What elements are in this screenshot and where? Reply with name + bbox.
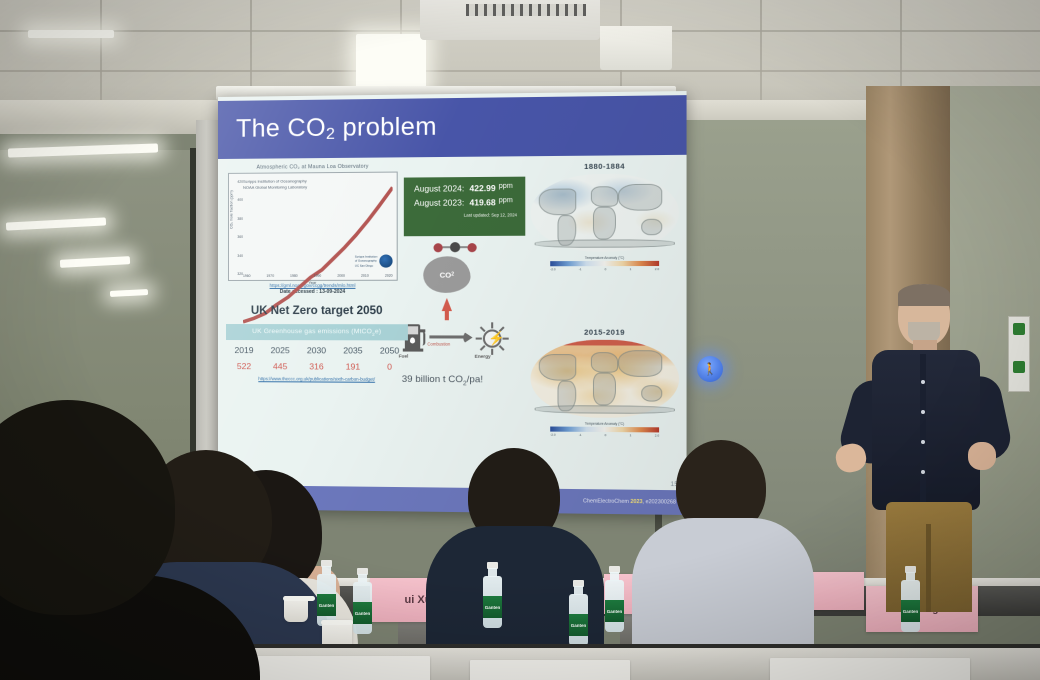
cb-tick: -2.0 <box>550 432 555 436</box>
cite-right-post: , e202300268 <box>643 499 676 506</box>
ppm-value: 422.99 <box>469 183 495 193</box>
co2-ppm-callout-box: August 2024: 422.99 ppm August 2023: 419… <box>404 177 525 237</box>
table-row-values: 522 445 316 191 0 <box>226 358 408 375</box>
ppm-label: August 2023: <box>414 197 469 207</box>
cb-tick: 2.0 <box>655 267 659 271</box>
bottle-label: Ganten <box>901 600 920 622</box>
colorbar-ticks: -2.0 -1 0 1 2.0 <box>550 267 659 271</box>
lightning-bolt-icon: ⚡ <box>488 331 505 344</box>
world-map-cool <box>530 173 679 252</box>
badge-text: Scripps Institution of Oceanography UC S… <box>355 255 377 268</box>
bottle-label: Ganten <box>605 600 624 622</box>
cb-tick: -1 <box>579 267 582 271</box>
colorbar-title: Temperature Anomaly (°C) <box>550 421 659 426</box>
emission-prefix: 39 billion t CO <box>402 374 463 385</box>
year-cell: 2025 <box>262 342 298 358</box>
year-cell: 2050 <box>371 343 408 359</box>
citation-right: ChemElectroChem 2023, e202300268 <box>583 498 676 505</box>
cb-tick: -1 <box>579 432 582 436</box>
bottle-label: Ganten <box>569 614 588 636</box>
energy-sun-icon: ⚡ <box>477 323 508 354</box>
x-tick: 2020 <box>385 274 393 278</box>
ppm-row: August 2024: 422.99 ppm <box>414 183 517 194</box>
conference-room-scene: 🚶 The CO2 problem Atmospheric CO₂ at Mau… <box>0 0 1040 680</box>
co2-molecule-icon <box>434 242 477 252</box>
combustion-label: Combustion <box>427 341 450 346</box>
person-running-icon: 🚶 <box>697 356 723 382</box>
year-cell: 2019 <box>226 342 262 358</box>
keeling-x-axis-label: Year <box>229 281 397 285</box>
year-cell: 2035 <box>335 343 372 359</box>
ceiling-projector <box>420 0 600 40</box>
wall-light-strip <box>6 217 106 230</box>
presentation-slide: The CO2 problem Atmospheric CO₂ at Mauna… <box>218 91 687 515</box>
emission-arrow-tail <box>445 309 449 320</box>
cb-tick: -2.0 <box>550 267 555 271</box>
cb-tick: 1 <box>630 433 632 437</box>
cb-tick: 1 <box>630 267 632 271</box>
bottle-label: Ganten <box>483 596 502 618</box>
x-tick: 2010 <box>361 274 369 278</box>
noaa-scripps-badge: Scripps Institution of Oceanography UC S… <box>355 254 393 267</box>
slide-title-rest: problem <box>335 112 437 141</box>
name-card <box>806 572 864 610</box>
ppm-label: August 2024: <box>414 183 469 194</box>
badge-line3: UC San Diego <box>355 263 377 267</box>
colorbar-gradient <box>550 261 659 266</box>
x-tick: 1960 <box>243 274 251 278</box>
ppm-unit: ppm <box>499 183 513 193</box>
y-tick: 400 <box>231 198 243 202</box>
uk-emissions-table: 2019 2025 2030 2035 2050 522 445 316 191… <box>226 342 408 375</box>
keeling-chart-title: Atmospheric CO₂ at Mauna Loa Observatory <box>228 163 398 170</box>
bottle-label: Ganten <box>317 594 336 616</box>
emission-statement: 39 billion t CO2/pa! <box>402 374 483 387</box>
world-map-warm <box>530 340 679 419</box>
presenter-hair <box>898 284 950 306</box>
map-label: 1880-1884 <box>525 161 684 172</box>
cite-right-pre: ChemElectroChem <box>583 498 630 505</box>
uk-net-zero-block: UK Net Zero target 2050 UK Greenhouse ga… <box>226 305 408 382</box>
shirt-placket <box>920 354 926 504</box>
value-cell: 316 <box>298 359 334 375</box>
wall-light-strip <box>60 256 130 268</box>
ppm-last-updated: Last updated: Sep 12, 2024 <box>414 212 517 218</box>
keeling-plot-area: Scripps Institution of Oceanography NOAA… <box>228 172 398 281</box>
presenter-leg-split <box>926 524 931 612</box>
colorbar-title: Temperature Anomaly (°C) <box>550 256 659 260</box>
map-colorbar: Temperature Anomaly (°C) -2.0 -1 0 1 2.0 <box>550 421 659 437</box>
presenter-torso <box>872 350 980 510</box>
slide-title-sub: 2 <box>326 126 335 143</box>
paper-sheet <box>770 658 970 680</box>
cloud-sub: 2 <box>451 272 454 278</box>
value-cell: 191 <box>335 359 372 375</box>
y-tick: 380 <box>231 217 243 221</box>
keeling-x-ticks: 1960 1970 1980 1990 2000 2010 2020 <box>243 274 393 278</box>
wall-light-strip <box>110 289 148 297</box>
y-tick: 340 <box>231 253 243 257</box>
cb-tick: 0 <box>605 433 607 437</box>
temperature-anomaly-map-2015: 2015-2019 Temperature Anomaly (°C) <box>525 327 684 449</box>
presenter-right-hand <box>968 442 996 470</box>
projector-vents <box>466 4 586 16</box>
colorbar-ticks: -2.0 -1 0 1 2.0 <box>550 432 659 437</box>
noaa-logo-icon <box>379 254 392 267</box>
cb-tick: 2.0 <box>655 433 659 437</box>
cb-tick: 0 <box>605 267 607 271</box>
uk-header-tail: e) <box>375 328 381 335</box>
combustion-diagram: CO2 Fuel Combustion <box>395 242 518 374</box>
x-tick: 1980 <box>290 274 298 278</box>
cloud-label: CO <box>440 270 452 279</box>
year-cell: 2030 <box>298 343 334 359</box>
ppm-value: 419.68 <box>469 197 495 207</box>
co2-cloud-icon: CO2 <box>423 256 470 293</box>
ppm-row: August 2023: 419.68 ppm <box>414 197 517 208</box>
y-tick: 360 <box>231 235 243 239</box>
paper-sheet <box>470 660 630 680</box>
paper-sheet <box>240 656 430 680</box>
projection-screen: The CO2 problem Atmospheric CO₂ at Mauna… <box>218 91 687 515</box>
emission-suffix: /pa! <box>467 374 483 385</box>
energy-label: Energy <box>475 354 491 359</box>
map-colorbar: Temperature Anomaly (°C) -2.0 -1 0 1 2.0 <box>550 256 659 271</box>
page-title: The CO2 problem <box>218 112 437 145</box>
value-cell: 0 <box>371 359 408 375</box>
wall-light-strip <box>8 143 158 157</box>
x-tick: 1990 <box>314 274 322 278</box>
x-tick: 1970 <box>266 274 274 278</box>
keeling-y-ticks: 420 400 380 360 340 320 <box>231 180 243 276</box>
value-cell: 445 <box>262 358 298 374</box>
ppm-unit: ppm <box>499 197 513 207</box>
slide-title-bar: The CO2 problem <box>218 95 687 159</box>
keeling-curve-figure: Atmospheric CO₂ at Mauna Loa Observatory… <box>228 163 398 297</box>
slide-title-main: The CO <box>236 114 326 143</box>
projector-lens <box>600 26 672 70</box>
badge-line2: of Oceanography <box>355 259 377 263</box>
slide-body: Atmospheric CO₂ at Mauna Loa Observatory… <box>218 155 687 490</box>
y-tick: 320 <box>231 272 243 276</box>
ceiling-light <box>28 30 114 38</box>
uk-source-link[interactable]: https://www.theccc.org.uk/publications/s… <box>226 376 408 382</box>
presenter <box>858 284 1028 604</box>
cite-right-bold: 2023 <box>630 499 642 505</box>
uk-table-header: UK Greenhouse gas emissions (MtCO2e) <box>226 324 408 341</box>
bottle-label: Ganten <box>353 602 372 624</box>
table-row-years: 2019 2025 2030 2035 2050 <box>226 342 408 359</box>
paper-cup <box>284 596 308 622</box>
map-label: 2015-2019 <box>525 327 684 336</box>
value-cell: 522 <box>226 358 262 374</box>
y-tick: 420 <box>231 180 243 184</box>
x-tick: 2000 <box>337 274 345 278</box>
uk-net-zero-title: UK Net Zero target 2050 <box>226 305 408 317</box>
temperature-anomaly-map-1880: 1880-1884 Temperature Anomaly (°C) <box>525 161 684 283</box>
uk-header-text: UK Greenhouse gas emissions (MtCO <box>252 328 372 335</box>
